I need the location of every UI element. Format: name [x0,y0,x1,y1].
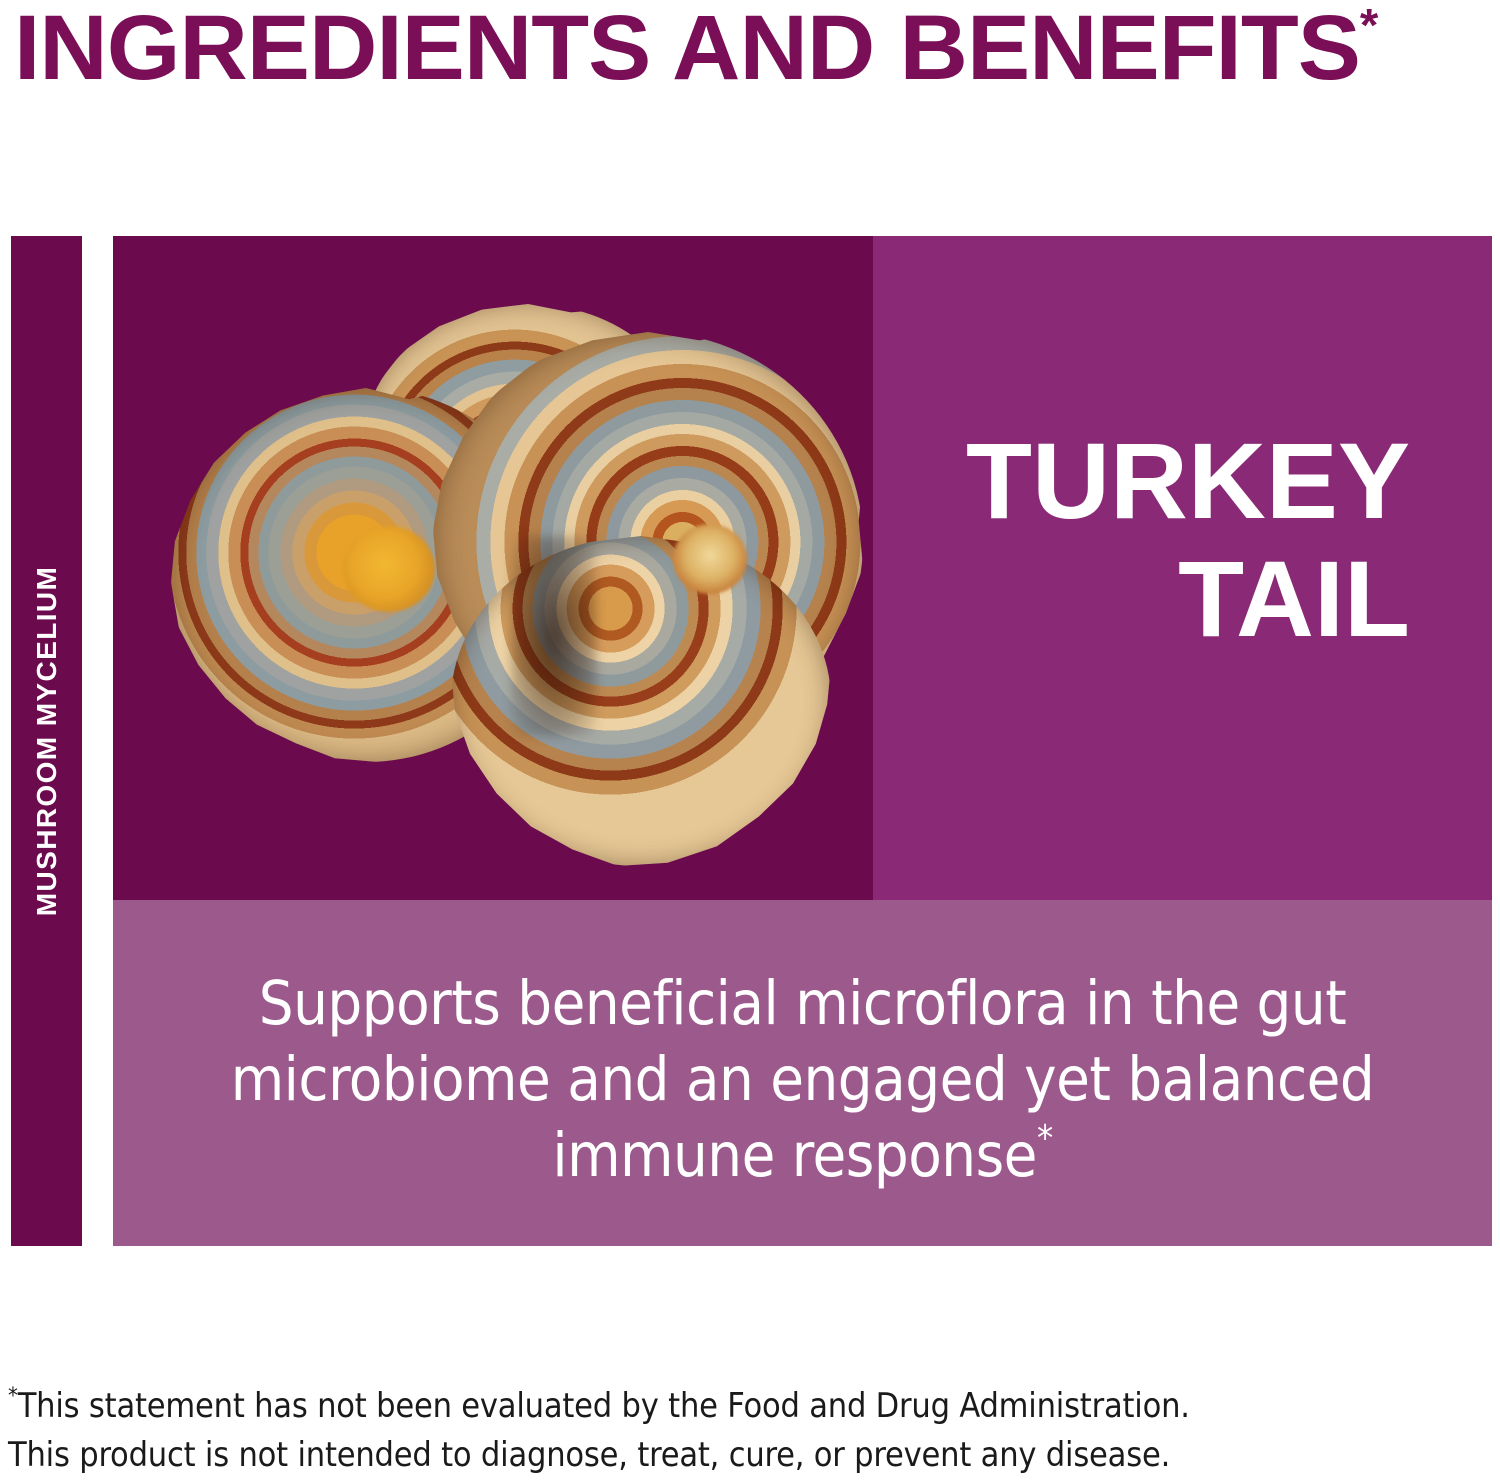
fda-disclaimer: *This statement has not been evaluated b… [8,1382,1308,1480]
photo-panel [113,236,873,900]
ingredient-card: TURKEY TAIL Supports beneficial microflo… [113,236,1492,1246]
ingredient-name-line2: TAIL [873,540,1410,658]
fda-disclaimer-text-1: This statement has not been evaluated by… [18,1386,1190,1426]
ingredient-name: TURKEY TAIL [873,422,1410,658]
benefit-statement-text: Supports beneficial microflora in the gu… [231,968,1375,1191]
page-title-text: INGREDIENTS AND BENEFITS [14,0,1360,99]
benefit-statement: Supports beneficial microflora in the gu… [173,966,1432,1194]
benefit-panel: Supports beneficial microflora in the gu… [113,900,1492,1246]
category-bar-label: MUSHROOM MYCELIUM [31,566,63,916]
mushroom-core-right [673,524,747,594]
fda-disclaimer-line-1: *This statement has not been evaluated b… [8,1382,1308,1431]
mushroom-core-left [343,526,435,612]
card-top-section: TURKEY TAIL [113,236,1492,900]
turkey-tail-mushroom-image [113,236,873,900]
mushroom-rosette-bottom [451,536,831,866]
mushroom-center-shadow [511,536,597,736]
ingredient-name-panel: TURKEY TAIL [873,236,1492,900]
page-title: INGREDIENTS AND BENEFITS* [14,0,1500,101]
category-bar: MUSHROOM MYCELIUM [11,236,82,1246]
ingredient-name-line1: TURKEY [966,420,1410,541]
fda-disclaimer-line-2: This product is not intended to diagnose… [8,1431,1308,1480]
